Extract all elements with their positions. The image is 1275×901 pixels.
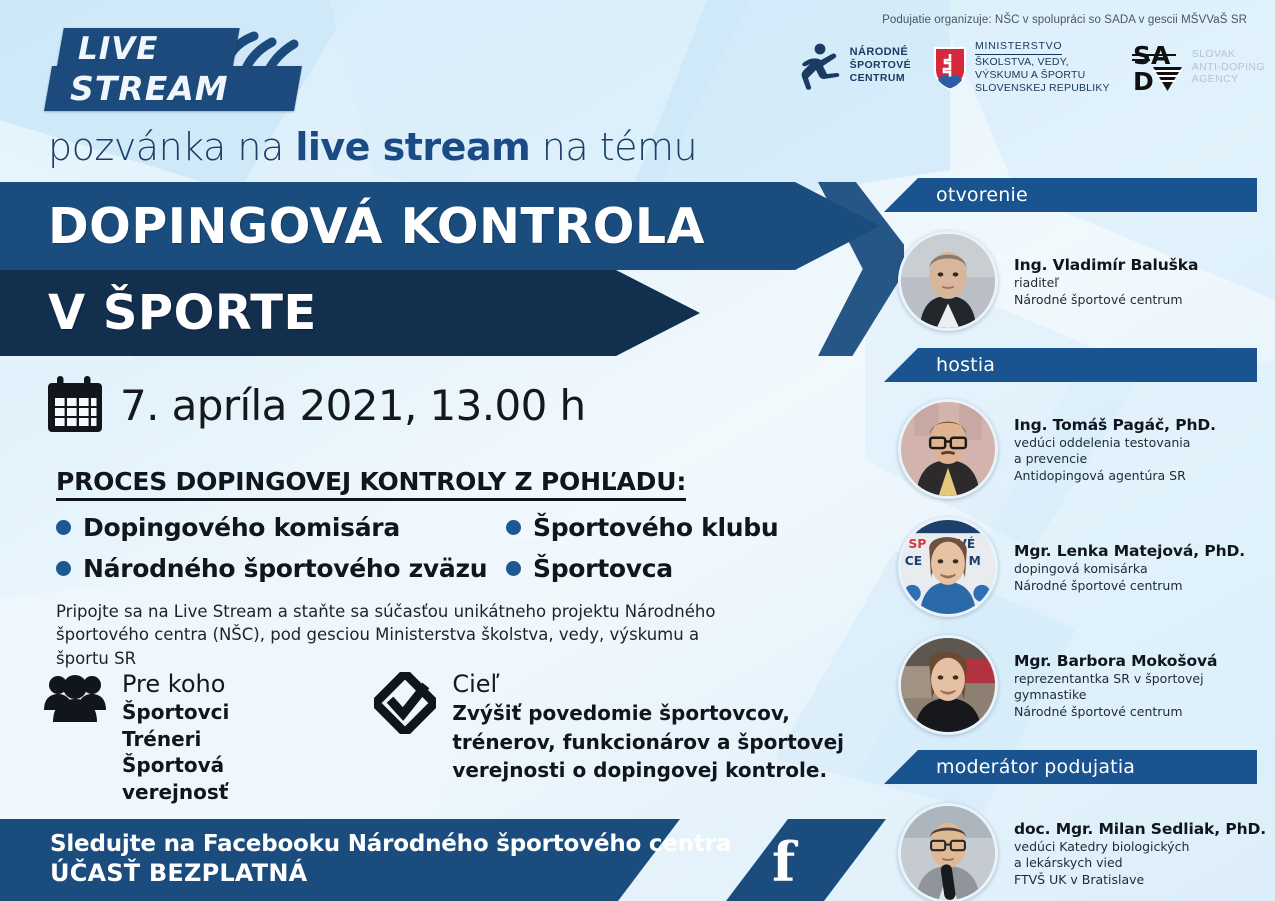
bullet-label: Športovca <box>533 554 673 583</box>
bullet-dot-icon <box>506 520 521 535</box>
info-columns: Pre koho Športovci Tréneri Športová vere… <box>44 672 844 806</box>
audience-title: Pre koho <box>122 672 326 697</box>
subtitle-post: na tému <box>530 125 697 169</box>
list-item: Mgr. Barbora Mokošová reprezentantka SR … <box>884 626 1275 744</box>
goal-line: verejnosti o dopingovej kontrole. <box>452 756 844 784</box>
avatar <box>898 635 998 735</box>
people-group-icon <box>44 672 106 722</box>
invitation-subtitle: pozvánka na live stream na tému <box>48 125 697 169</box>
person-role: dopingová komisárka Národné športové cen… <box>1014 561 1245 594</box>
person-text: Ing. Tomáš Pagáč, PhD. vedúci oddelenia … <box>1014 414 1216 485</box>
running-person-icon <box>796 40 842 90</box>
process-bullet-list: Dopingového komisára Športového klubu Ná… <box>56 513 846 583</box>
event-date-row: 7. apríla 2021, 13.00 h <box>44 374 586 436</box>
logo-stream-text: STREAM <box>48 69 229 108</box>
list-item: Dopingového komisára <box>56 513 506 542</box>
section-header-label: otvorenie <box>884 184 1028 206</box>
list-item: Národného športového zväzu <box>56 554 506 583</box>
person-name: Mgr. Lenka Matejová, PhD. <box>1014 542 1245 560</box>
footer-line1: Sledujte na Facebooku Národného športové… <box>50 831 731 857</box>
avatar: SP VÉ CE M <box>898 517 998 617</box>
person-role-line: riaditeľ <box>1014 275 1198 292</box>
person-name: Ing. Tomáš Pagáč, PhD. <box>1014 416 1216 434</box>
person-role-line: vedúci Katedry biologických <box>1014 839 1266 856</box>
bullet-label: Športového klubu <box>533 513 778 542</box>
audience-lines: Športovci Tréneri Športová verejnosť <box>122 699 326 805</box>
person-text: Mgr. Lenka Matejová, PhD. dopingová komi… <box>1014 540 1245 594</box>
subtitle-bold: live stream <box>295 125 530 169</box>
portrait-vladimir-baluska <box>901 234 995 328</box>
audience-line: Tréneri <box>122 726 326 753</box>
bullet-label: Dopingového komisára <box>83 513 400 542</box>
list-item: doc. Mgr. Milan Sedliak, PhD. vedúci Kat… <box>884 794 1275 901</box>
list-item: Ing. Tomáš Pagáč, PhD. vedúci oddelenia … <box>884 390 1275 508</box>
footer-text: Sledujte na Facebooku Národného športové… <box>50 831 731 887</box>
goal-text: Cieľ Zvýšiť povedomie športovcov, tréner… <box>452 672 844 806</box>
person-role: vedúci Katedry biologických a lekárskych… <box>1014 839 1266 889</box>
avatar <box>898 803 998 901</box>
section-header-hostia: hostia <box>884 348 1257 382</box>
facebook-f-icon[interactable]: f <box>772 835 795 889</box>
avatar <box>898 399 998 499</box>
person-role-line: Antidopingová agentúra SR <box>1014 468 1216 485</box>
bullet-dot-icon <box>56 520 71 535</box>
check-diamond-icon <box>374 672 436 734</box>
audience-line: Športovci <box>122 699 326 726</box>
goal-line: Zvýšiť povedomie športovcov, <box>452 699 844 727</box>
person-role-line: Národné športové centrum <box>1014 704 1267 721</box>
person-role-line: dopingová komisárka <box>1014 561 1245 578</box>
people-group-icon-wrap <box>44 672 106 806</box>
person-text: Ing. Vladimír Baluška riaditeľ Národné š… <box>1014 254 1198 308</box>
section-header-label: moderátor podujatia <box>884 756 1135 778</box>
portrait-milan-sedliak <box>901 806 995 900</box>
person-text: doc. Mgr. Milan Sedliak, PhD. vedúci Kat… <box>1014 818 1266 889</box>
bullet-dot-icon <box>506 561 521 576</box>
logo-stream-bar: STREAM <box>44 66 302 111</box>
person-role-line: Národné športové centrum <box>1014 578 1245 595</box>
person-role-line: a prevencie <box>1014 451 1216 468</box>
audience-line: Športová verejnosť <box>122 752 326 805</box>
list-item: Športovca <box>506 554 846 583</box>
svg-text:M: M <box>969 554 981 568</box>
section-header-moderator: moderátor podujatia <box>884 750 1257 784</box>
avatar <box>898 231 998 331</box>
person-role-line: FTVŠ UK v Bratislave <box>1014 872 1266 889</box>
process-heading: PROCES DOPINGOVEJ KONTROLY Z POHĽADU: <box>56 467 686 501</box>
portrait-tomas-pagac <box>901 402 995 496</box>
poster-root: LIVE STREAM Podujatie organizuje: NŠC v … <box>0 0 1275 901</box>
person-name: doc. Mgr. Milan Sedliak, PhD. <box>1014 820 1266 838</box>
person-role-line: a lekárskych vied <box>1014 855 1266 872</box>
live-stream-logo: LIVE STREAM <box>48 22 308 117</box>
svg-text:SP: SP <box>909 537 927 551</box>
goal-lines: Zvýšiť povedomie športovcov, trénerov, f… <box>452 699 844 784</box>
section-header-otvorenie: otvorenie <box>884 178 1257 212</box>
goal-block: Cieľ Zvýšiť povedomie športovcov, tréner… <box>374 672 844 806</box>
event-date: 7. apríla 2021, 13.00 h <box>120 381 586 430</box>
person-role-line: vedúci oddelenia testovania <box>1014 435 1216 452</box>
calendar-icon <box>44 374 106 436</box>
list-item: Športového klubu <box>506 513 846 542</box>
goal-title: Cieľ <box>452 672 844 697</box>
audience-block: Pre koho Športovci Tréneri Športová vere… <box>44 672 326 806</box>
subtitle-pre: pozvánka na <box>48 125 295 169</box>
speakers-rail: otvorenie Ing. Vladimír Baluška <box>884 0 1275 901</box>
title-band-secondary: V ŠPORTE <box>0 270 700 356</box>
person-text: Mgr. Barbora Mokošová reprezentantka SR … <box>1014 650 1267 721</box>
list-item: Ing. Vladimír Baluška riaditeľ Národné š… <box>884 222 1275 340</box>
person-name: Ing. Vladimír Baluška <box>1014 256 1198 274</box>
person-role: riaditeľ Národné športové centrum <box>1014 275 1198 308</box>
bullet-label: Národného športového zväzu <box>83 554 487 583</box>
audience-text: Pre koho Športovci Tréneri Športová vere… <box>122 672 326 806</box>
person-role: vedúci oddelenia testovania a prevencie … <box>1014 435 1216 485</box>
logo-live-bar: LIVE <box>56 28 239 70</box>
person-role: reprezentantka SR v športovej gymnastike… <box>1014 671 1267 721</box>
facebook-cta-shape[interactable] <box>726 819 886 901</box>
page-title-line2: V ŠPORTE <box>0 285 317 341</box>
intro-paragraph: Pripojte sa na Live Stream a staňte sa s… <box>56 600 756 670</box>
svg-text:CE: CE <box>905 554 922 568</box>
list-item: SP VÉ CE M Mgr. Lenka Matejová, PhD. <box>884 508 1275 626</box>
page-title-line1: DOPINGOVÁ KONTROLA <box>0 198 705 255</box>
section-header-label: hostia <box>884 354 995 376</box>
logo-live-text: LIVE <box>60 31 158 67</box>
person-role-line: reprezentantka SR v športovej gymnastike <box>1014 671 1267 704</box>
person-role-line: Národné športové centrum <box>1014 292 1198 309</box>
portrait-lenka-matejova: SP VÉ CE M <box>901 520 995 614</box>
title-band-primary: DOPINGOVÁ KONTROLA <box>0 182 880 270</box>
check-diamond-icon-wrap <box>374 672 436 806</box>
bullet-dot-icon <box>56 561 71 576</box>
person-name: Mgr. Barbora Mokošová <box>1014 652 1267 670</box>
goal-line: trénerov, funkcionárov a športovej <box>452 728 844 756</box>
footer-line2: ÚČASŤ BEZPLATNÁ <box>50 859 731 887</box>
portrait-barbora-mokosova <box>901 638 995 732</box>
